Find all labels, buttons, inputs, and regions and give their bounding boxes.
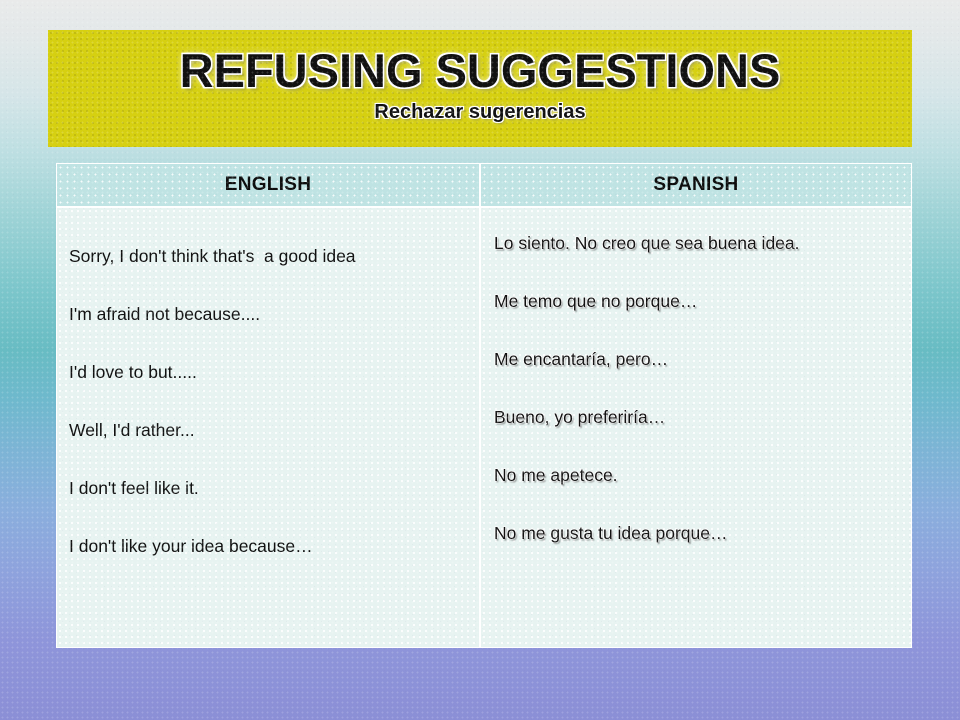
english-phrase-list: Sorry, I don't think that's a good idea … <box>57 208 479 593</box>
column-header-english: ENGLISH <box>56 163 480 207</box>
column-header-spanish: SPANISH <box>480 163 912 207</box>
list-item: Well, I'd rather... <box>69 419 479 477</box>
slide-canvas: REFUSING SUGGESTIONS Rechazar sugerencia… <box>0 0 960 720</box>
phrase-table: ENGLISH SPANISH Sorry, I don't think tha… <box>56 163 912 648</box>
spanish-phrase-list: Lo siento. No creo que sea buena idea. M… <box>481 208 911 580</box>
list-item: I'm afraid not because.... <box>69 303 479 361</box>
table-row: Sorry, I don't think that's a good idea … <box>56 207 912 648</box>
list-item: Sorry, I don't think that's a good idea <box>69 245 479 303</box>
spanish-cell: Lo siento. No creo que sea buena idea. M… <box>480 207 912 648</box>
list-item: Me encantaría, pero… <box>494 348 911 406</box>
list-item: No me gusta tu idea porque… <box>494 522 911 580</box>
list-item: Bueno, yo preferiría… <box>494 406 911 464</box>
list-item: Lo siento. No creo que sea buena idea. <box>494 232 911 290</box>
page-subtitle: Rechazar sugerencias <box>48 97 912 124</box>
list-item: Me temo que no porque… <box>494 290 911 348</box>
list-item: I'd love to but..... <box>69 361 479 419</box>
table-body: Sorry, I don't think that's a good idea … <box>56 207 912 648</box>
list-item: I don't like your idea because… <box>69 535 479 593</box>
list-item: No me apetece. <box>494 464 911 522</box>
english-cell: Sorry, I don't think that's a good idea … <box>56 207 480 648</box>
page-title: REFUSING SUGGESTIONS <box>48 30 912 97</box>
table-header-row: ENGLISH SPANISH <box>56 163 912 207</box>
list-item: I don't feel like it. <box>69 477 479 535</box>
title-banner: REFUSING SUGGESTIONS Rechazar sugerencia… <box>48 30 912 147</box>
